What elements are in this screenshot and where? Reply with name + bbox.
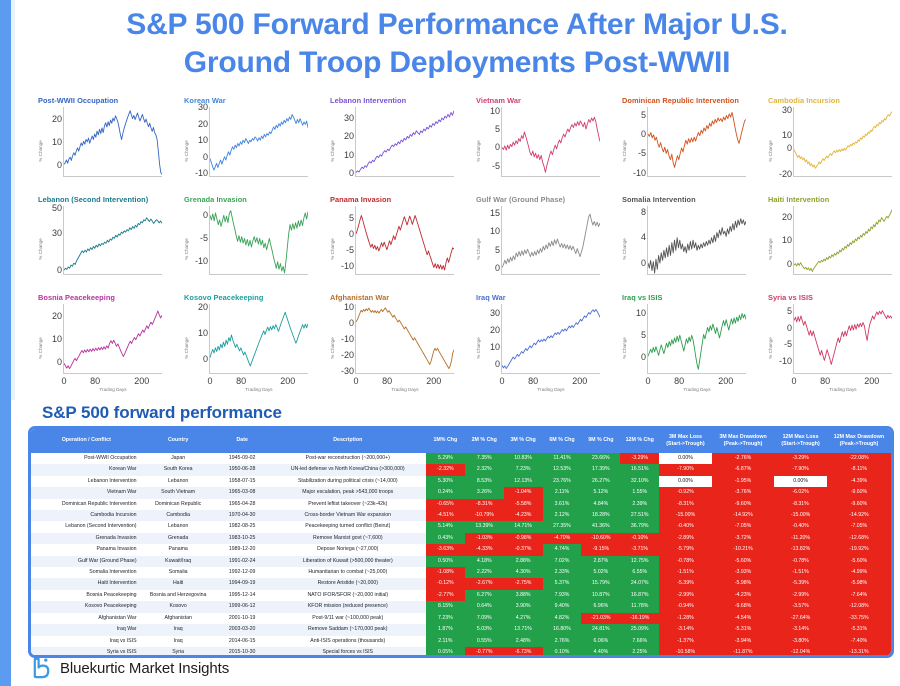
y-tick-label: 5 — [495, 124, 500, 134]
chart-plot-area: % Change0510080200Trading Days — [602, 304, 748, 392]
table-metric-cell: -22.08% — [827, 453, 891, 464]
chart-plot-area: % Change01020080200Trading Days — [18, 304, 164, 392]
chart-panel: Cambodia Incursion% Change-2001030 — [748, 96, 894, 195]
table-metric-cell: -11.20% — [774, 533, 827, 544]
table-desc-cell: Remove Marxist govt (~7,600) — [270, 533, 426, 544]
table-row[interactable]: Kosovo PeacekeepingKosovo1999-06-12KFOR … — [31, 601, 891, 612]
table-metric-cell: 23.76% — [543, 476, 582, 487]
y-tick-label: 0 — [203, 210, 208, 220]
table-body: Post-WWII OccupationJapan1945-09-02Post-… — [31, 453, 891, 658]
table-metric-cell: -10.79% — [465, 510, 504, 521]
column-header-line-1: 2M % Chg — [466, 437, 503, 444]
y-axis-spine — [793, 304, 794, 374]
table-column-header[interactable]: 3M Max Loss(Start->Trough) — [659, 429, 712, 453]
table-metric-cell: 3.88% — [504, 590, 543, 601]
y-tick-label: -10 — [195, 256, 208, 266]
y-tick-label: 0 — [57, 265, 62, 275]
table-date-cell: 1950-06-28 — [215, 464, 270, 475]
table-metric-cell: -4.33% — [465, 544, 504, 555]
table-metric-cell: -6.73% — [504, 647, 543, 658]
chart-plot-area: % Change-10-505 — [602, 107, 748, 195]
table-metric-cell: -6.87% — [712, 464, 775, 475]
table-metric-cell: -5.39% — [774, 578, 827, 589]
chart-plot-area: % Change-50510 — [456, 107, 602, 195]
table-metric-cell: -1.95% — [712, 476, 775, 487]
table-metric-cell: -3.80% — [774, 636, 827, 647]
table-date-cell: 1995-12-14 — [215, 590, 270, 601]
table-metric-cell: 8.15% — [426, 601, 465, 612]
table-metric-cell: 32.10% — [620, 476, 659, 487]
table-metric-cell: 4.18% — [465, 556, 504, 567]
chart-panel-title: Kosovo Peacekeeping — [184, 293, 263, 302]
x-axis-ticks: 080200Trading Days — [210, 376, 308, 390]
table-metric-cell: 6.27% — [465, 590, 504, 601]
table-date-cell: 1994-09-19 — [215, 578, 270, 589]
table-metric-cell: 10.87% — [581, 590, 620, 601]
table-metric-cell: 25.09% — [620, 624, 659, 635]
table-metric-cell: 4.40% — [581, 647, 620, 658]
table-metric-cell: 0.10% — [543, 647, 582, 658]
column-header-line-1: 12M Max Loss — [775, 434, 826, 441]
y-axis-spine — [209, 206, 210, 276]
y-tick-label: 0 — [57, 357, 62, 367]
chart-panel: Grenada Invasion% Change-10-50 — [164, 195, 310, 294]
y-axis-ticks: 01020 — [34, 107, 62, 177]
table-metric-cell: 1.55% — [620, 487, 659, 498]
y-tick-label: 20 — [198, 119, 208, 129]
table-metric-cell: -3.93% — [712, 567, 775, 578]
table-country-cell: Japan — [142, 453, 215, 464]
table-date-cell: 1991-02-24 — [215, 556, 270, 567]
table-row[interactable]: Iraq vs ISISIraq2014-06-15Anti-ISIS oper… — [31, 636, 891, 647]
x-axis-spine — [355, 373, 454, 374]
y-tick-label: 0 — [349, 168, 354, 178]
x-axis-spine — [63, 176, 162, 177]
table-metric-cell: 15.79% — [581, 578, 620, 589]
table-name-cell: Lebanon Intervention — [31, 476, 142, 487]
table-metric-cell: 2.48% — [504, 636, 543, 647]
table-metric-cell: -0.92% — [659, 487, 712, 498]
table-metric-cell: -4.54% — [712, 613, 775, 624]
table-desc-cell: Humanitarian to combat (~25,000) — [270, 567, 426, 578]
table-name-cell: Haiti Intervention — [31, 578, 142, 589]
y-tick-label: 10 — [782, 235, 792, 245]
y-tick-label: 10 — [52, 137, 62, 147]
table-metric-cell: -14.92% — [712, 510, 775, 521]
table-metric-cell: 4.74% — [543, 544, 582, 555]
table-metric-cell: 2.76% — [543, 636, 582, 647]
y-tick-label: -20 — [779, 169, 792, 179]
table-metric-cell: -7.05% — [827, 521, 891, 532]
table-metric-cell: 0.64% — [465, 601, 504, 612]
table-row[interactable]: Korean WarSouth Korea1950-06-28UN-led de… — [31, 464, 891, 475]
column-header-line-2: (Peak->Trough) — [828, 441, 890, 448]
chart-panel-title: Grenada Invasion — [184, 195, 247, 204]
chart-line-svg — [502, 107, 600, 177]
y-tick-label: 20 — [52, 311, 62, 321]
table-metric-cell: -8.31% — [659, 499, 712, 510]
x-axis-label: Trading Days — [502, 387, 600, 397]
x-axis-label: Trading Days — [648, 387, 746, 397]
table-metric-cell: 3.61% — [543, 499, 582, 510]
table-metric-cell: -9.60% — [827, 499, 891, 510]
y-axis-spine — [63, 206, 64, 276]
y-tick-label: 0 — [641, 129, 646, 139]
y-axis-spine — [355, 304, 356, 374]
table-column-header[interactable]: Operation / Conflict — [31, 429, 142, 453]
table-date-cell: 1982-08-25 — [215, 521, 270, 532]
table-column-header[interactable]: Description — [270, 429, 426, 453]
x-axis-spine — [793, 274, 892, 275]
y-axis-ticks: 01020 — [34, 304, 62, 374]
table-metric-cell: -10.60% — [581, 533, 620, 544]
x-axis-spine — [355, 274, 454, 275]
table-row[interactable]: Vietnam WarSouth Vietnam1965-03-08Major … — [31, 487, 891, 498]
table-metric-cell: -1.04% — [504, 487, 543, 498]
x-axis-ticks — [210, 277, 308, 291]
y-tick-label: 0 — [57, 160, 62, 170]
y-axis-spine — [63, 107, 64, 177]
x-tick-label: 80 — [382, 376, 392, 386]
y-axis-ticks: 048 — [618, 206, 646, 276]
table-column-header[interactable]: Country — [142, 429, 215, 453]
table-metric-cell: -3.72% — [712, 533, 775, 544]
chart-panel-title: Iraq War — [476, 293, 506, 302]
table-row[interactable]: Post-WWII OccupationJapan1945-09-02Post-… — [31, 453, 891, 464]
footer: Bluekurtic Market Insights — [30, 657, 229, 680]
x-axis-spine — [355, 176, 454, 177]
table-date-cell: 1965-03-08 — [215, 487, 270, 498]
x-tick-label: 0 — [791, 376, 796, 386]
column-header-line-1: 3M % Chg — [505, 437, 542, 444]
table-metric-cell: -8.31% — [774, 499, 827, 510]
table-row[interactable]: Iraq WarIraq2003-03-20Remove Saddam (~17… — [31, 624, 891, 635]
table-metric-cell: -1.51% — [659, 567, 712, 578]
table-metric-cell: 7.66% — [620, 636, 659, 647]
table-row[interactable]: Somalia InterventionSomalia1992-12-09Hum… — [31, 567, 891, 578]
table-row[interactable]: Haiti InterventionHaiti1994-09-19Restore… — [31, 578, 891, 589]
table-metric-cell: 2.39% — [620, 499, 659, 510]
y-tick-label: -30 — [341, 366, 354, 376]
chart-plot-area: % Change01020080200Trading Days — [164, 304, 310, 392]
x-axis-label: Trading Days — [210, 387, 308, 397]
y-axis-spine — [63, 304, 64, 374]
table-metric-cell: -13.31% — [827, 647, 891, 658]
table-country-cell: Kuwait/Iraq — [142, 556, 215, 567]
table-metric-cell: -0.65% — [426, 499, 465, 510]
x-tick-label: 200 — [426, 376, 441, 386]
table-metric-cell: -1.28% — [659, 613, 712, 624]
table-metric-cell: 2.25% — [620, 647, 659, 658]
table-section-title: S&P 500 forward performance — [42, 403, 282, 423]
table-metric-cell: -21.03% — [581, 613, 620, 624]
table-metric-cell: -0.12% — [426, 578, 465, 589]
x-axis-label: Trading Days — [356, 387, 454, 397]
chart-line-svg — [210, 107, 308, 177]
table-column-header[interactable]: 3M Max Drawdown(Peak->Trough) — [712, 429, 775, 453]
table-metric-cell: -8.11% — [827, 464, 891, 475]
x-axis-ticks — [356, 277, 454, 291]
table-desc-cell: Depose Noriega (~27,000) — [270, 544, 426, 555]
table-metric-cell: -4.51% — [426, 510, 465, 521]
chart-line-svg — [64, 206, 162, 276]
y-tick-label: 0 — [203, 354, 208, 364]
y-tick-label: 10 — [52, 334, 62, 344]
x-tick-label: 80 — [236, 376, 246, 386]
table-desc-cell: Post-war reconstruction (~200,000+) — [270, 453, 426, 464]
table-metric-cell: -3.63% — [426, 544, 465, 555]
y-tick-label: 30 — [52, 228, 62, 238]
chart-panel-title: Dominican Republic Intervention — [622, 96, 739, 105]
table-name-cell: Gulf War (Ground Phase) — [31, 556, 142, 567]
table-metric-cell: -3.57% — [774, 601, 827, 612]
table-metric-cell: 4.30% — [504, 567, 543, 578]
table-row[interactable]: Gulf War (Ground Phase)Kuwait/Iraq1991-0… — [31, 556, 891, 567]
x-axis-spine — [501, 373, 600, 374]
y-tick-label: 0 — [495, 142, 500, 152]
chart-plot-area: % Change-10-50 — [164, 206, 310, 294]
y-axis-spine — [501, 304, 502, 374]
table-desc-cell: Special forces vs ISIS — [270, 647, 426, 658]
chart-panel: Iraq vs ISIS% Change0510080200Trading Da… — [602, 293, 748, 392]
b-logo-icon — [30, 657, 53, 680]
table-metric-cell: -0.78% — [659, 556, 712, 567]
table-metric-cell: 8.53% — [465, 476, 504, 487]
chart-line-svg — [356, 304, 454, 374]
chart-panel: Haiti Intervention% Change01020 — [748, 195, 894, 294]
y-tick-label: 20 — [344, 131, 354, 141]
table-metric-cell: -5.39% — [659, 578, 712, 589]
table-metric-cell: 16.87% — [620, 590, 659, 601]
table-metric-cell: -5.98% — [827, 578, 891, 589]
table-metric-cell: 41.36% — [581, 521, 620, 532]
table-metric-cell: 24.07% — [620, 578, 659, 589]
x-axis-ticks: 080200Trading Days — [356, 376, 454, 390]
table-metric-cell: -7.05% — [712, 521, 775, 532]
table-date-cell: 1965-04-28 — [215, 499, 270, 510]
chart-line-svg — [794, 304, 892, 374]
column-header-line-1: Country — [143, 437, 214, 444]
chart-line-svg — [794, 107, 892, 177]
table-metric-cell: -9.60% — [712, 499, 775, 510]
chart-plot-area: % Change-10-505 — [310, 206, 456, 294]
table-row[interactable]: Panama InvasionPanama1989-12-20Depose No… — [31, 544, 891, 555]
y-tick-label: 5 — [641, 110, 646, 120]
table-metric-cell: -3.14% — [774, 624, 827, 635]
chart-panel: Dominican Republic Intervention% Change-… — [602, 96, 748, 195]
chart-panel-title: Post-WWII Occupation — [38, 96, 118, 105]
table-country-cell: Iraq — [142, 636, 215, 647]
table-column-header[interactable]: 2M % Chg — [465, 429, 504, 453]
table-column-header[interactable]: 12M Max Drawdown(Peak->Trough) — [827, 429, 891, 453]
x-tick-label: 0 — [61, 376, 66, 386]
x-axis-ticks — [502, 277, 600, 291]
x-tick-label: 0 — [645, 376, 650, 386]
x-axis-spine — [647, 274, 746, 275]
table-metric-cell: -2.99% — [774, 590, 827, 601]
y-tick-label: 10 — [782, 130, 792, 140]
chart-line-svg — [648, 304, 746, 374]
table-metric-cell: 0.55% — [465, 636, 504, 647]
y-axis-ticks: 0102030 — [326, 107, 354, 177]
table-metric-cell: 6.55% — [620, 567, 659, 578]
table-country-cell: Afghanistan — [142, 613, 215, 624]
y-tick-label: 5 — [787, 306, 792, 316]
y-axis-ticks: 03050 — [34, 206, 62, 276]
y-axis-spine — [793, 107, 794, 177]
table-metric-cell: 5.12% — [581, 487, 620, 498]
table-metric-cell: 11.78% — [620, 601, 659, 612]
y-tick-label: -10 — [779, 356, 792, 366]
y-axis-ticks: -2001030 — [764, 107, 792, 177]
chart-plot-area: % Change01020 — [18, 107, 164, 195]
x-tick-label: 80 — [90, 376, 100, 386]
table-metric-cell: 5.37% — [543, 578, 582, 589]
table-date-cell: 2014-06-15 — [215, 636, 270, 647]
x-tick-label: 0 — [353, 376, 358, 386]
chart-panel-title: Syria vs ISIS — [768, 293, 813, 302]
x-axis-spine — [647, 176, 746, 177]
y-tick-label: 8 — [641, 207, 646, 217]
table-metric-cell: -1.03% — [465, 533, 504, 544]
table-metric-cell: 7.93% — [543, 590, 582, 601]
table-column-header[interactable]: 12M % Chg — [620, 429, 659, 453]
y-tick-label: 0 — [495, 359, 500, 369]
table-name-cell: Bosnia Peacekeeping — [31, 590, 142, 601]
table-metric-cell: 14.71% — [504, 521, 543, 532]
y-axis-spine — [647, 206, 648, 276]
table-row[interactable]: Afghanistan WarAfghanistan2001-10-19Post… — [31, 613, 891, 624]
x-tick-label: 200 — [280, 376, 295, 386]
table-column-header[interactable]: 3M % Chg — [504, 429, 543, 453]
table-row[interactable]: Dominican Republic InterventionDominican… — [31, 499, 891, 510]
table-metric-cell: -3.29% — [774, 453, 827, 464]
table-metric-cell: 0.00% — [774, 476, 827, 487]
x-axis-label: Trading Days — [794, 387, 892, 397]
performance-table: Operation / ConflictCountryDateDescripti… — [31, 429, 891, 658]
table-metric-cell: -1.08% — [426, 567, 465, 578]
table-name-cell: Panama Invasion — [31, 544, 142, 555]
chart-panel-title: Haiti Intervention — [768, 195, 829, 204]
table-metric-cell: -3.76% — [712, 487, 775, 498]
table-name-cell: Grenada Invasion — [31, 533, 142, 544]
column-header-line-1: 6M % Chg — [544, 437, 581, 444]
y-axis-ticks: -10-50 — [180, 206, 208, 276]
table-row[interactable]: Lebanon (Second Intervention)Lebanon1982… — [31, 521, 891, 532]
table-metric-cell: -2.77% — [426, 590, 465, 601]
x-axis-ticks — [210, 179, 308, 193]
table-metric-cell: -10.21% — [712, 544, 775, 555]
table-desc-cell: Major escalation, peak >543,000 troops — [270, 487, 426, 498]
table-name-cell: Korean War — [31, 464, 142, 475]
y-tick-label: 20 — [52, 114, 62, 124]
table-metric-cell: -5.60% — [712, 556, 775, 567]
table-metric-cell: -9.60% — [827, 487, 891, 498]
table-metric-cell: -33.75% — [827, 613, 891, 624]
table-metric-cell: -0.10% — [620, 533, 659, 544]
y-tick-label: 20 — [198, 302, 208, 312]
table-country-cell: Iraq — [142, 624, 215, 635]
table-row[interactable]: Grenada InvasionGrenada1983-10-25Remove … — [31, 533, 891, 544]
chart-panel: Somalia Intervention% Change048 — [602, 195, 748, 294]
table-name-cell: Iraq War — [31, 624, 142, 635]
chart-panel: Afghanistan War% Change-30-20-1001008020… — [310, 293, 456, 392]
y-tick-label: 10 — [490, 342, 500, 352]
table-desc-cell: NATO IFOR/SFOR (~20,000 initial) — [270, 590, 426, 601]
chart-panel: Lebanon Intervention% Change0102030 — [310, 96, 456, 195]
table-metric-cell: 7.23% — [504, 464, 543, 475]
y-axis-ticks: -50510 — [472, 107, 500, 177]
table-metric-cell: -16.19% — [620, 613, 659, 624]
table-metric-cell: -5.60% — [827, 556, 891, 567]
table-metric-cell: 0.00% — [659, 476, 712, 487]
chart-panel: Panama Invasion% Change-10-505 — [310, 195, 456, 294]
table-desc-cell: Prevent leftist takeover (~23k-42k) — [270, 499, 426, 510]
table-column-header[interactable]: Date — [215, 429, 270, 453]
table-country-cell: Kosovo — [142, 601, 215, 612]
table-date-cell: 1958-07-15 — [215, 476, 270, 487]
chart-panel-title: Vietnam War — [476, 96, 521, 105]
table-country-cell: South Vietnam — [142, 487, 215, 498]
x-tick-label: 200 — [718, 376, 733, 386]
chart-plot-area: % Change051015 — [456, 206, 602, 294]
table-header: Operation / ConflictCountryDateDescripti… — [31, 429, 891, 453]
table-row[interactable]: Lebanon InterventionLebanon1958-07-15Sta… — [31, 476, 891, 487]
table-metric-cell: 27.35% — [543, 521, 582, 532]
table-row[interactable]: Bosnia PeacekeepingBosnia and Herzegovin… — [31, 590, 891, 601]
y-tick-label: 20 — [782, 212, 792, 222]
table-metric-cell: -0.37% — [504, 544, 543, 555]
y-axis-spine — [647, 304, 648, 374]
table-metric-cell: 7.35% — [465, 453, 504, 464]
table-metric-cell: 2.12% — [543, 510, 582, 521]
chart-line-svg — [648, 107, 746, 177]
table-metric-cell: 6.96% — [581, 601, 620, 612]
x-axis-spine — [501, 274, 600, 275]
table-desc-cell: KFOR mission (reduced presence) — [270, 601, 426, 612]
table-column-header[interactable]: 9M % Chg — [581, 429, 620, 453]
table-country-cell: South Korea — [142, 464, 215, 475]
table-name-cell: Cambodia Incursion — [31, 510, 142, 521]
table-row[interactable]: Cambodia IncursionCambodia1970-04-30Cros… — [31, 510, 891, 521]
chart-line-svg — [356, 206, 454, 276]
y-tick-label: 10 — [636, 308, 646, 318]
x-tick-label: 80 — [528, 376, 538, 386]
left-accent-bar-inner — [11, 0, 15, 400]
table-column-header[interactable]: 6M % Chg — [543, 429, 582, 453]
table-column-header[interactable]: 12M Max Loss(Start->Trough) — [774, 429, 827, 453]
chart-panel-title: Afghanistan War — [330, 293, 389, 302]
table-desc-cell: Liberation of Kuwait (>500,000 theater) — [270, 556, 426, 567]
table-metric-cell: 7.23% — [426, 613, 465, 624]
table-metric-cell: 2.87% — [581, 556, 620, 567]
y-tick-label: 0 — [349, 318, 354, 328]
y-axis-ticks: -10-505 — [764, 304, 792, 374]
table-metric-cell: 5.30% — [426, 476, 465, 487]
table-metric-cell: -3.94% — [712, 636, 775, 647]
table-metric-cell: 2.11% — [426, 636, 465, 647]
table-metric-cell: 0.24% — [426, 487, 465, 498]
table-desc-cell: Post-9/11 war (~100,000 peak) — [270, 613, 426, 624]
x-tick-label: 200 — [864, 376, 879, 386]
y-tick-label: 0 — [787, 143, 792, 153]
table-metric-cell: -2.76% — [712, 453, 775, 464]
y-axis-ticks: -30-20-10010 — [326, 304, 354, 374]
table-column-header[interactable]: 1M% Chg — [426, 429, 465, 453]
table-metric-cell: -5.58% — [504, 499, 543, 510]
table-metric-cell: -9.15% — [581, 544, 620, 555]
y-tick-label: -10 — [341, 261, 354, 271]
